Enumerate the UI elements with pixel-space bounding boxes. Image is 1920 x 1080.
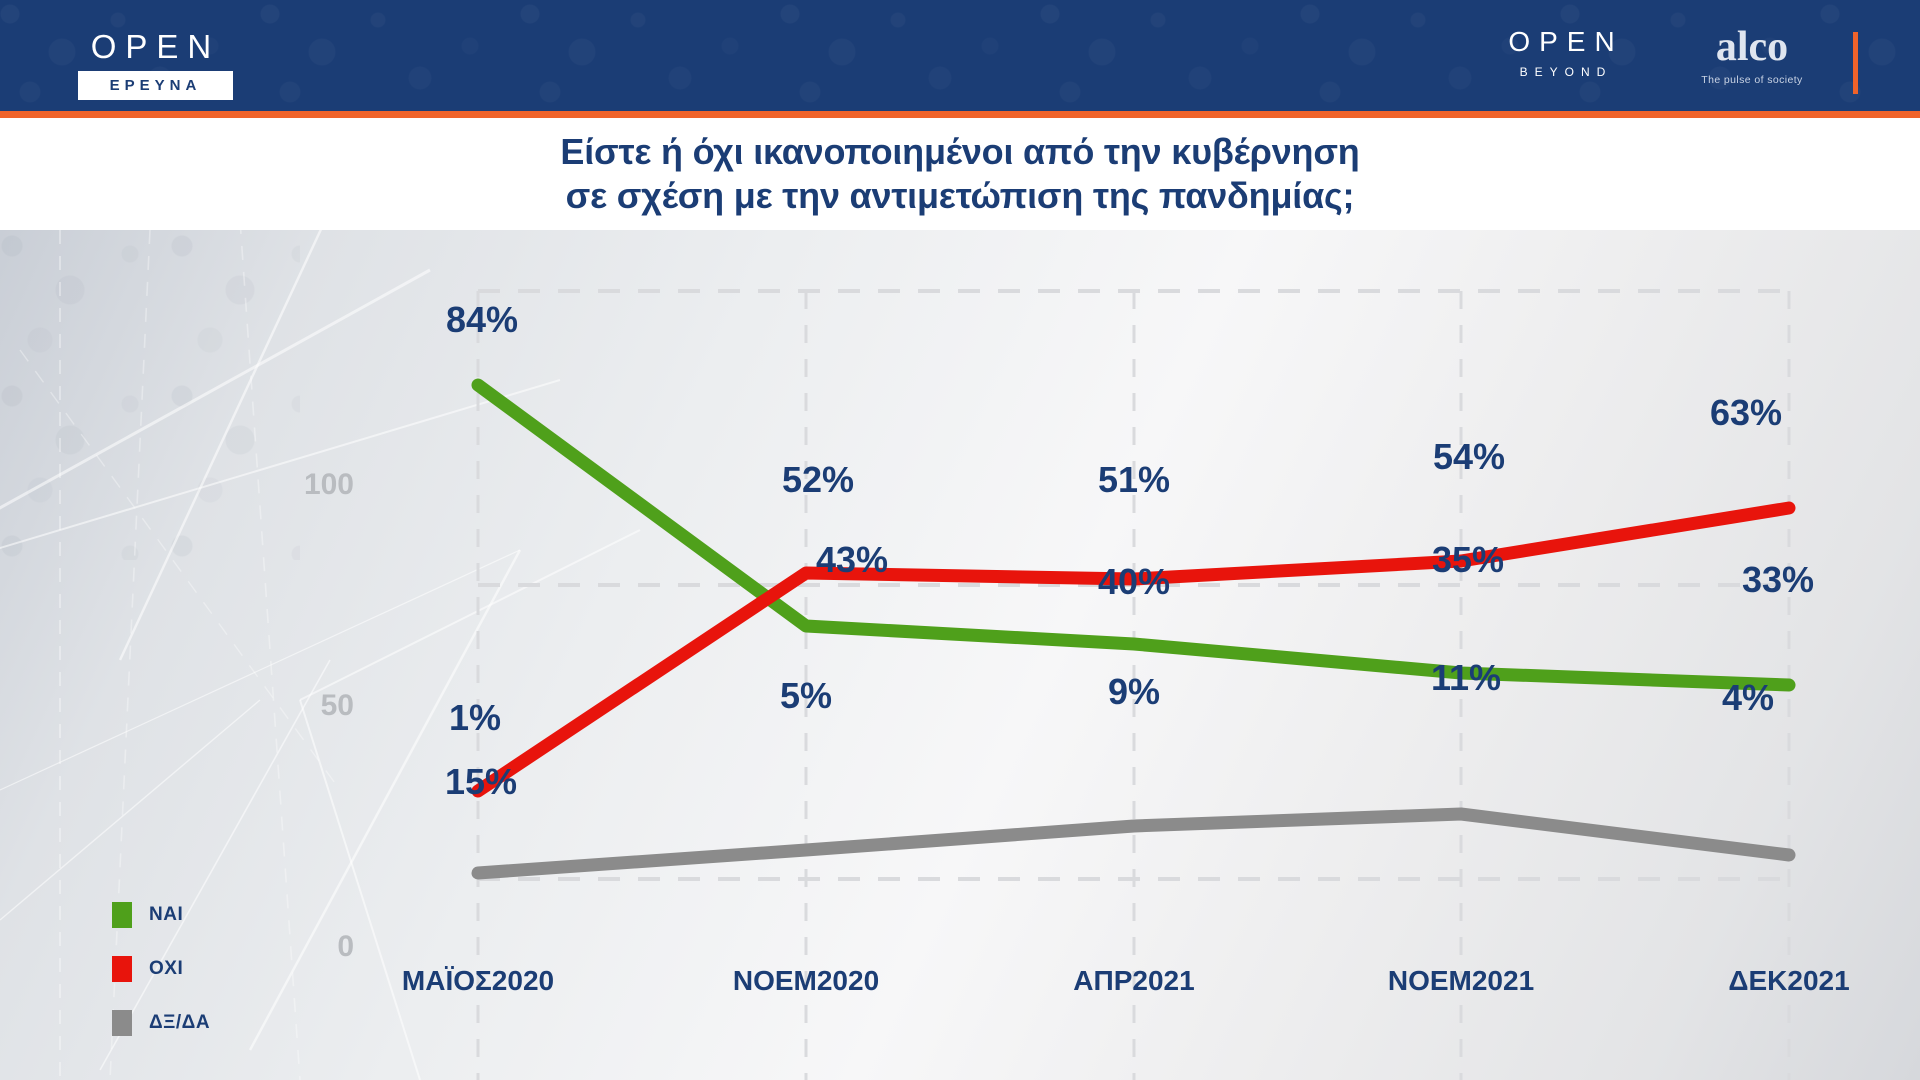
data-label-oxi-2: 51%: [1098, 459, 1170, 501]
data-label-nai-3: 35%: [1432, 539, 1504, 581]
data-label-dkda-3: 11%: [1431, 657, 1501, 699]
legend-label-oxi: ΟΧΙ: [149, 958, 183, 980]
open-ereyna-logo: OPEN EPEYNA: [78, 30, 233, 100]
data-label-dkda-1: 5%: [780, 675, 832, 717]
x-tick-apr-2021: ΑΠΡ2021: [1073, 965, 1194, 997]
legend-item-nai[interactable]: ΝΑΙ: [112, 902, 210, 928]
ereyna-badge-label: EPEYNA: [110, 77, 202, 94]
legend-item-oxi[interactable]: ΟΧΙ: [112, 956, 210, 982]
page-title: Είστε ή όχι ικανοποιημένοι από την κυβέρ…: [560, 130, 1359, 218]
legend-swatch-oxi-icon: [112, 956, 132, 982]
legend-swatch-dk-da-icon: [112, 1010, 132, 1036]
data-label-dkda-4: 4%: [1722, 677, 1774, 719]
legend-item-dk-da[interactable]: ΔΞ/ΔΑ: [112, 1010, 210, 1036]
alco-logo: alco The pulse of society: [1687, 28, 1817, 86]
title-line-1: Είστε ή όχι ικανοποιημένοι από την κυβέρ…: [560, 130, 1359, 174]
data-label-oxi-1: 52%: [782, 459, 854, 501]
logo-divider: [1853, 32, 1858, 94]
open-logo-wordmark: OPEN: [78, 30, 233, 63]
data-label-oxi-3: 54%: [1433, 436, 1505, 478]
y-tick-50: 50: [264, 689, 354, 723]
data-label-nai-1: 43%: [816, 539, 888, 581]
legend-label-nai: ΝΑΙ: [149, 904, 183, 926]
data-label-oxi-0: 15%: [445, 761, 517, 803]
open-beyond-wordmark: OPEN: [1481, 28, 1651, 56]
header-accent-bar: [0, 111, 1920, 118]
x-tick-noem-2020: ΝΟΕΜ2020: [733, 965, 879, 997]
data-label-oxi-4: 63%: [1710, 392, 1782, 434]
y-tick-100: 100: [264, 468, 354, 502]
partner-logos: OPEN BEYOND alco The pulse of society: [1481, 28, 1858, 94]
data-label-nai-2: 40%: [1098, 561, 1170, 603]
data-label-nai-0: 84%: [446, 299, 518, 341]
chart-container: 100 50 0 ΜΑΪΟΣ2020 ΝΟΕΜ2020 ΑΠΡ2021 ΝΟΕΜ…: [0, 230, 1920, 1080]
alco-wordmark: alco: [1687, 28, 1817, 68]
open-beyond-logo: OPEN BEYOND: [1481, 28, 1651, 79]
title-line-2: σε σχέση με την αντιμετώπιση της πανδημί…: [560, 174, 1359, 218]
data-label-dkda-0: 1%: [449, 697, 501, 739]
y-tick-0: 0: [264, 930, 354, 964]
chart-legend: ΝΑΙ ΟΧΙ ΔΞ/ΔΑ: [112, 902, 210, 1064]
data-label-dkda-2: 9%: [1108, 671, 1160, 713]
open-beyond-subtitle: BEYOND: [1481, 65, 1651, 79]
x-tick-dek-2021: ΔΕΚ2021: [1728, 965, 1849, 997]
legend-label-dk-da: ΔΞ/ΔΑ: [149, 1012, 210, 1034]
page-header: OPEN EPEYNA OPEN BEYOND alco The pulse o…: [0, 0, 1920, 118]
x-tick-noem-2021: ΝΟΕΜ2021: [1388, 965, 1534, 997]
title-band: Είστε ή όχι ικανοποιημένοι από την κυβέρ…: [0, 118, 1920, 230]
legend-swatch-nai-icon: [112, 902, 132, 928]
data-label-nai-4: 33%: [1742, 559, 1814, 601]
alco-tagline: The pulse of society: [1687, 74, 1817, 86]
x-tick-maios-2020: ΜΑΪΟΣ2020: [402, 965, 554, 997]
ereyna-badge: EPEYNA: [78, 71, 233, 100]
